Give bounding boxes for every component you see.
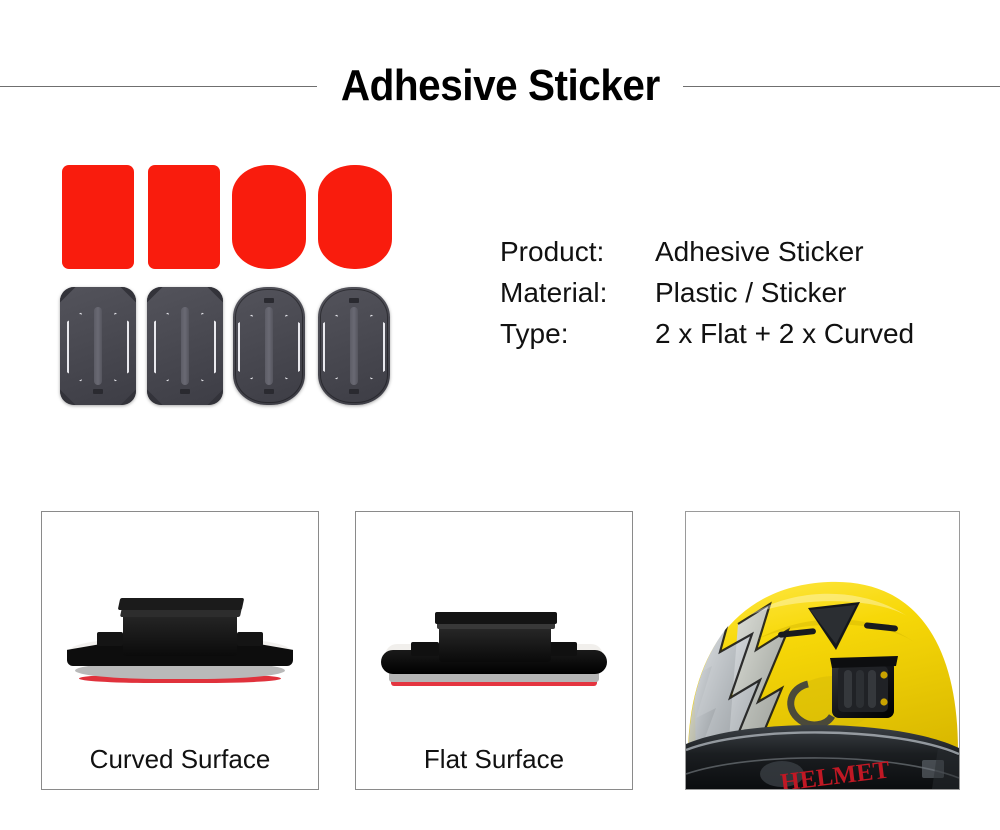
mount-curved-2 (318, 287, 390, 405)
adhesive-pad-curved-1 (232, 165, 306, 269)
adhesive-pad-flat-2 (148, 165, 220, 269)
panel-curved-surface: Curved Surface (41, 511, 319, 790)
panel-flat-surface: Flat Surface (355, 511, 633, 790)
mount-curved-1 (233, 287, 305, 405)
spec-list: Product: Adhesive Sticker Material: Plas… (500, 236, 970, 359)
adhesive-pad-curved-2 (318, 165, 392, 269)
helmet-with-mount-photo: HELMET (686, 512, 959, 789)
title-rule-left (0, 86, 317, 87)
panel-caption-curved: Curved Surface (42, 744, 318, 775)
page-title: Adhesive Sticker (341, 61, 660, 111)
spec-row-product: Product: Adhesive Sticker (500, 236, 970, 277)
spec-label-material: Material: (500, 277, 655, 309)
curved-mount-side-view (42, 512, 318, 717)
panel-helmet-application: HELMET (685, 511, 960, 790)
spec-value-material: Plastic / Sticker (655, 277, 846, 309)
mounts-row (50, 287, 410, 410)
page-title-bar: Adhesive Sticker (0, 58, 1000, 114)
spec-label-product: Product: (500, 236, 655, 268)
panel-caption-flat: Flat Surface (356, 744, 632, 775)
adhesive-pad-flat-1 (62, 165, 134, 269)
spec-value-type: 2 x Flat + 2 x Curved (655, 318, 914, 350)
spec-row-type: Type: 2 x Flat + 2 x Curved (500, 318, 970, 359)
title-rule-right (683, 86, 1000, 87)
spec-value-product: Adhesive Sticker (655, 236, 864, 268)
adhesive-pads-row (50, 165, 410, 273)
flat-mount-side-view (356, 512, 632, 717)
mount-flat-1 (60, 287, 136, 405)
spec-label-type: Type: (500, 318, 655, 350)
mount-flat-2 (147, 287, 223, 405)
product-photo (50, 165, 410, 410)
spec-row-material: Material: Plastic / Sticker (500, 277, 970, 318)
